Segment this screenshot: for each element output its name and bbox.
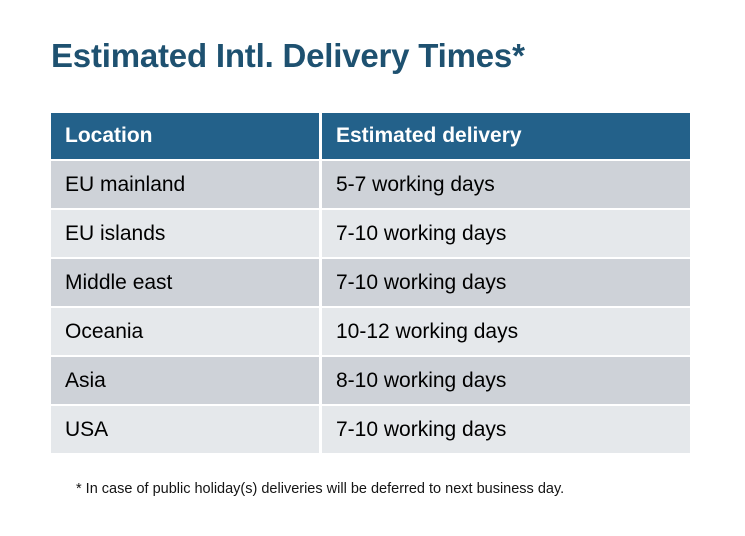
column-header-delivery: Estimated delivery (322, 113, 690, 159)
cell-delivery: 5-7 working days (322, 161, 690, 208)
cell-location: USA (51, 406, 319, 453)
table-row: USA 7-10 working days (51, 406, 690, 453)
cell-delivery: 7-10 working days (322, 210, 690, 257)
delivery-times-page: Estimated Intl. Delivery Times* Location… (0, 0, 745, 536)
table-row: EU islands 7-10 working days (51, 210, 690, 257)
table-header-row: Location Estimated delivery (51, 113, 690, 159)
cell-location: EU islands (51, 210, 319, 257)
cell-delivery: 7-10 working days (322, 406, 690, 453)
cell-location: Asia (51, 357, 319, 404)
cell-delivery: 8-10 working days (322, 357, 690, 404)
page-title: Estimated Intl. Delivery Times* (51, 36, 525, 76)
table-row: Oceania 10-12 working days (51, 308, 690, 355)
cell-delivery: 10-12 working days (322, 308, 690, 355)
table-row: Middle east 7-10 working days (51, 259, 690, 306)
table-row: Asia 8-10 working days (51, 357, 690, 404)
cell-location: Middle east (51, 259, 319, 306)
table-row: EU mainland 5-7 working days (51, 161, 690, 208)
cell-location: EU mainland (51, 161, 319, 208)
cell-delivery: 7-10 working days (322, 259, 690, 306)
delivery-times-table: Location Estimated delivery EU mainland … (51, 113, 690, 453)
footnote-text: * In case of public holiday(s) deliverie… (76, 479, 564, 499)
column-header-location: Location (51, 113, 319, 159)
cell-location: Oceania (51, 308, 319, 355)
